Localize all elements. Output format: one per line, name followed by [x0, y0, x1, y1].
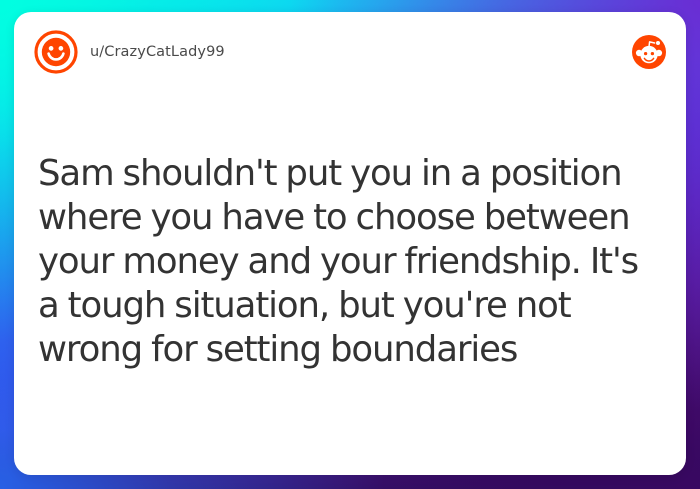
- comment-text: Sam shouldn't put you in a position wher…: [38, 152, 660, 372]
- reddit-comment-card: u/CrazyCatLady99 Sam shouldn't put you i…: [14, 12, 686, 475]
- reddit-quote-card-screenshot: u/CrazyCatLady99 Sam shouldn't put you i…: [0, 0, 700, 489]
- username-label: u/CrazyCatLady99: [90, 44, 225, 60]
- reddit-snoo-logo-icon: [632, 35, 666, 69]
- card-header: u/CrazyCatLady99: [14, 12, 686, 92]
- smiley-face-avatar-icon: [34, 30, 78, 74]
- card-body: Sam shouldn't put you in a position wher…: [38, 152, 660, 372]
